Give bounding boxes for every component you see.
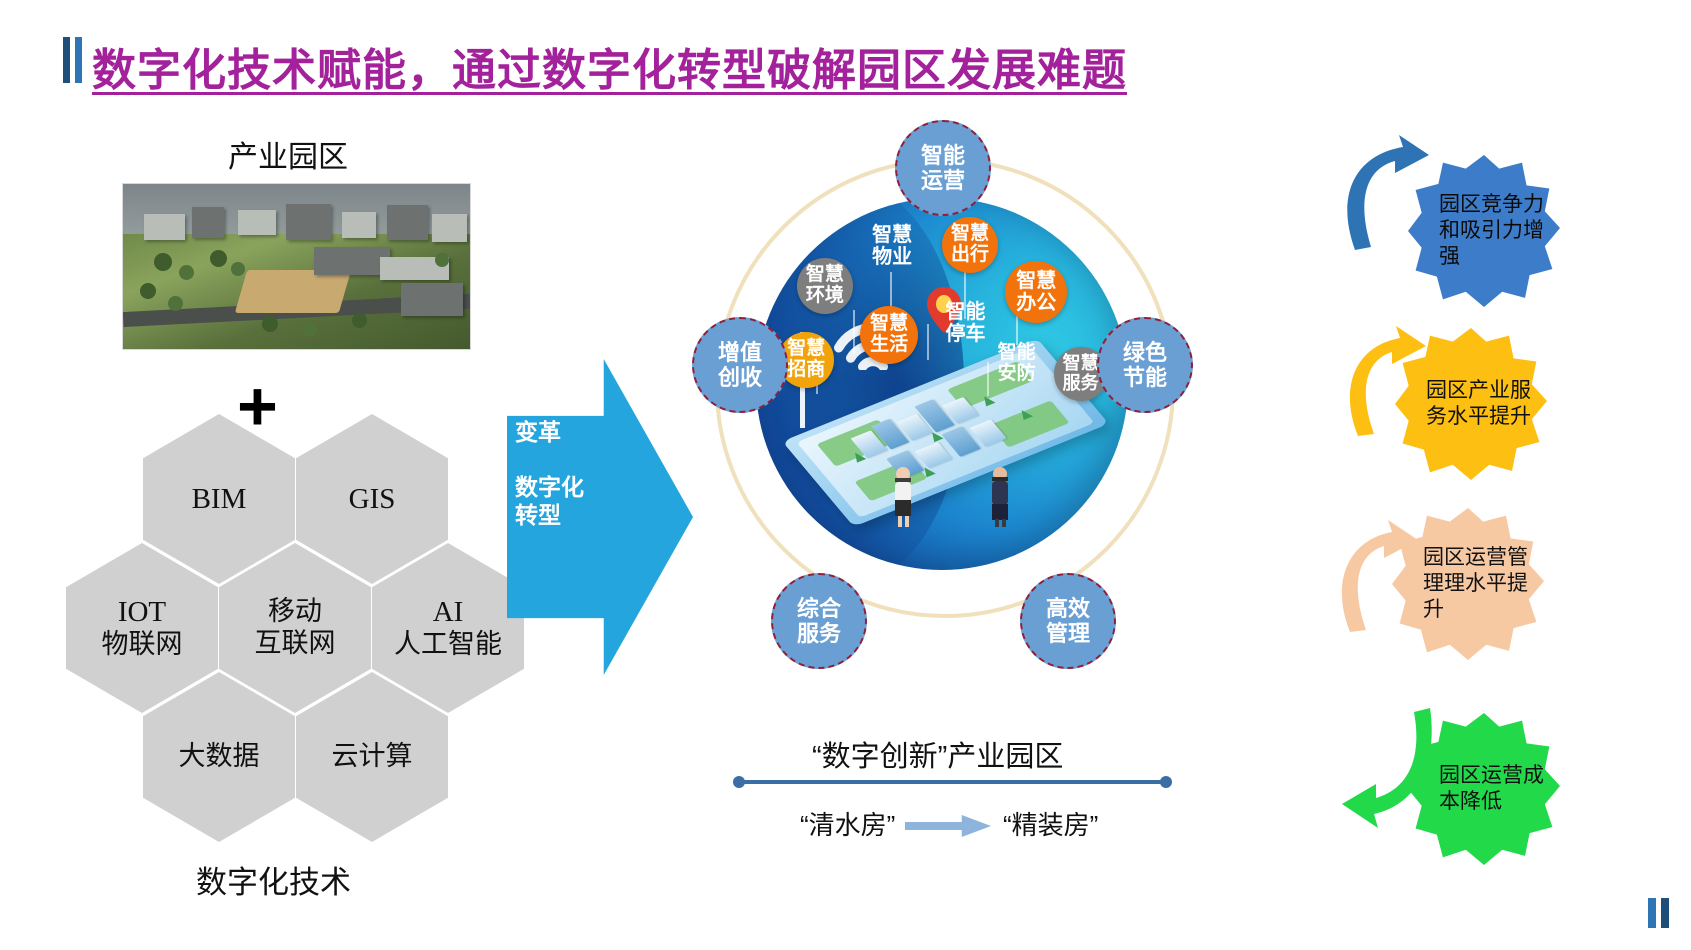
outcome-gear-cost-reduction-label: 园区运营成本降低 bbox=[1439, 763, 1547, 816]
smart-park-wheel: 智慧物业 智慧出行 智慧环境 智慧办公 智慧生活 智能停车 智慧招商 智能安防 bbox=[660, 120, 1220, 700]
arrow-line-4: 转型 bbox=[515, 502, 561, 528]
slide-canvas: 数字化技术赋能，通过数字化转型破解园区发展难题 产业园区 + BIM bbox=[0, 0, 1691, 950]
person-figure-left bbox=[890, 466, 916, 528]
hex-ai-label-en: AI bbox=[394, 595, 502, 629]
satellite-integrated-service[interactable]: 综合服务 bbox=[771, 573, 867, 669]
satellite-value-added-revenue[interactable]: 增值创收 bbox=[692, 317, 788, 413]
park-aerial-photo bbox=[122, 183, 471, 350]
page-title: 数字化技术赋能，通过数字化转型破解园区发展难题 bbox=[92, 34, 1127, 98]
hex-ai-label-cn: 人工智能 bbox=[394, 629, 502, 661]
digital-innovation-caption: “数字创新”产业园区 bbox=[812, 733, 1063, 775]
smart-city-globe: 智慧物业 智慧出行 智慧环境 智慧办公 智慧生活 智能停车 智慧招商 智能安防 bbox=[756, 198, 1128, 570]
progress-track bbox=[735, 780, 1170, 784]
title-accent-bars bbox=[63, 37, 82, 83]
room-state-to: “精装房” bbox=[1003, 805, 1098, 842]
hex-mobile-line2: 互联网 bbox=[255, 628, 336, 660]
satellite-efficient-management[interactable]: 高效管理 bbox=[1020, 573, 1116, 669]
hex-big-data-label: 大数据 bbox=[179, 741, 260, 773]
bubble-smart-environment[interactable]: 智慧环境 bbox=[797, 258, 853, 314]
bubble-smart-office[interactable]: 智慧办公 bbox=[1005, 261, 1067, 323]
hex-iot-label-cn: 物联网 bbox=[102, 629, 183, 661]
arrow-line-1: 数字化 bbox=[515, 390, 584, 416]
person-figure-right bbox=[987, 466, 1013, 528]
satellite-smart-operation[interactable]: 智能运营 bbox=[895, 120, 991, 216]
bubble-smart-life[interactable]: 智慧生活 bbox=[860, 306, 918, 364]
corner-accent-bars bbox=[1648, 898, 1669, 928]
park-section-label: 产业园区 bbox=[228, 132, 348, 176]
technology-hexagon-grid: BIM GIS IOT 物联网 移动 互联网 AI 人工智能 大数据 bbox=[60, 414, 510, 814]
room-state-from: “清水房” bbox=[800, 805, 895, 842]
outcome-gear-industry-service-label: 园区产业服务水平提升 bbox=[1426, 378, 1534, 431]
room-transition-arrow-icon bbox=[905, 815, 991, 837]
bubble-smart-parking[interactable]: 智能停车 bbox=[935, 298, 997, 348]
hex-mobile-line1: 移动 bbox=[255, 596, 336, 628]
satellite-green-saving[interactable]: 绿色节能 bbox=[1097, 317, 1193, 413]
digital-technology-label: 数字化技术 bbox=[196, 857, 351, 902]
hex-cloud-label: 云计算 bbox=[332, 741, 413, 773]
arrow-line-2: 变革 bbox=[515, 419, 561, 445]
transformation-arrow-text: 数字化 变革 数字化 转型 bbox=[515, 389, 625, 530]
outcome-gear-competitiveness-label: 园区竞争力和吸引力增强 bbox=[1439, 192, 1547, 271]
outcome-gear-operation-management-label: 园区运营管理理水平提升 bbox=[1423, 545, 1531, 624]
arrow-line-3: 数字化 bbox=[515, 474, 584, 500]
bubble-smart-travel[interactable]: 智慧出行 bbox=[942, 217, 998, 273]
hex-iot-label-en: IOT bbox=[102, 595, 183, 629]
bubble-smart-security[interactable]: 智能安防 bbox=[987, 339, 1047, 389]
hex-bim-label: BIM bbox=[192, 482, 247, 516]
hex-gis-label: GIS bbox=[349, 482, 396, 516]
